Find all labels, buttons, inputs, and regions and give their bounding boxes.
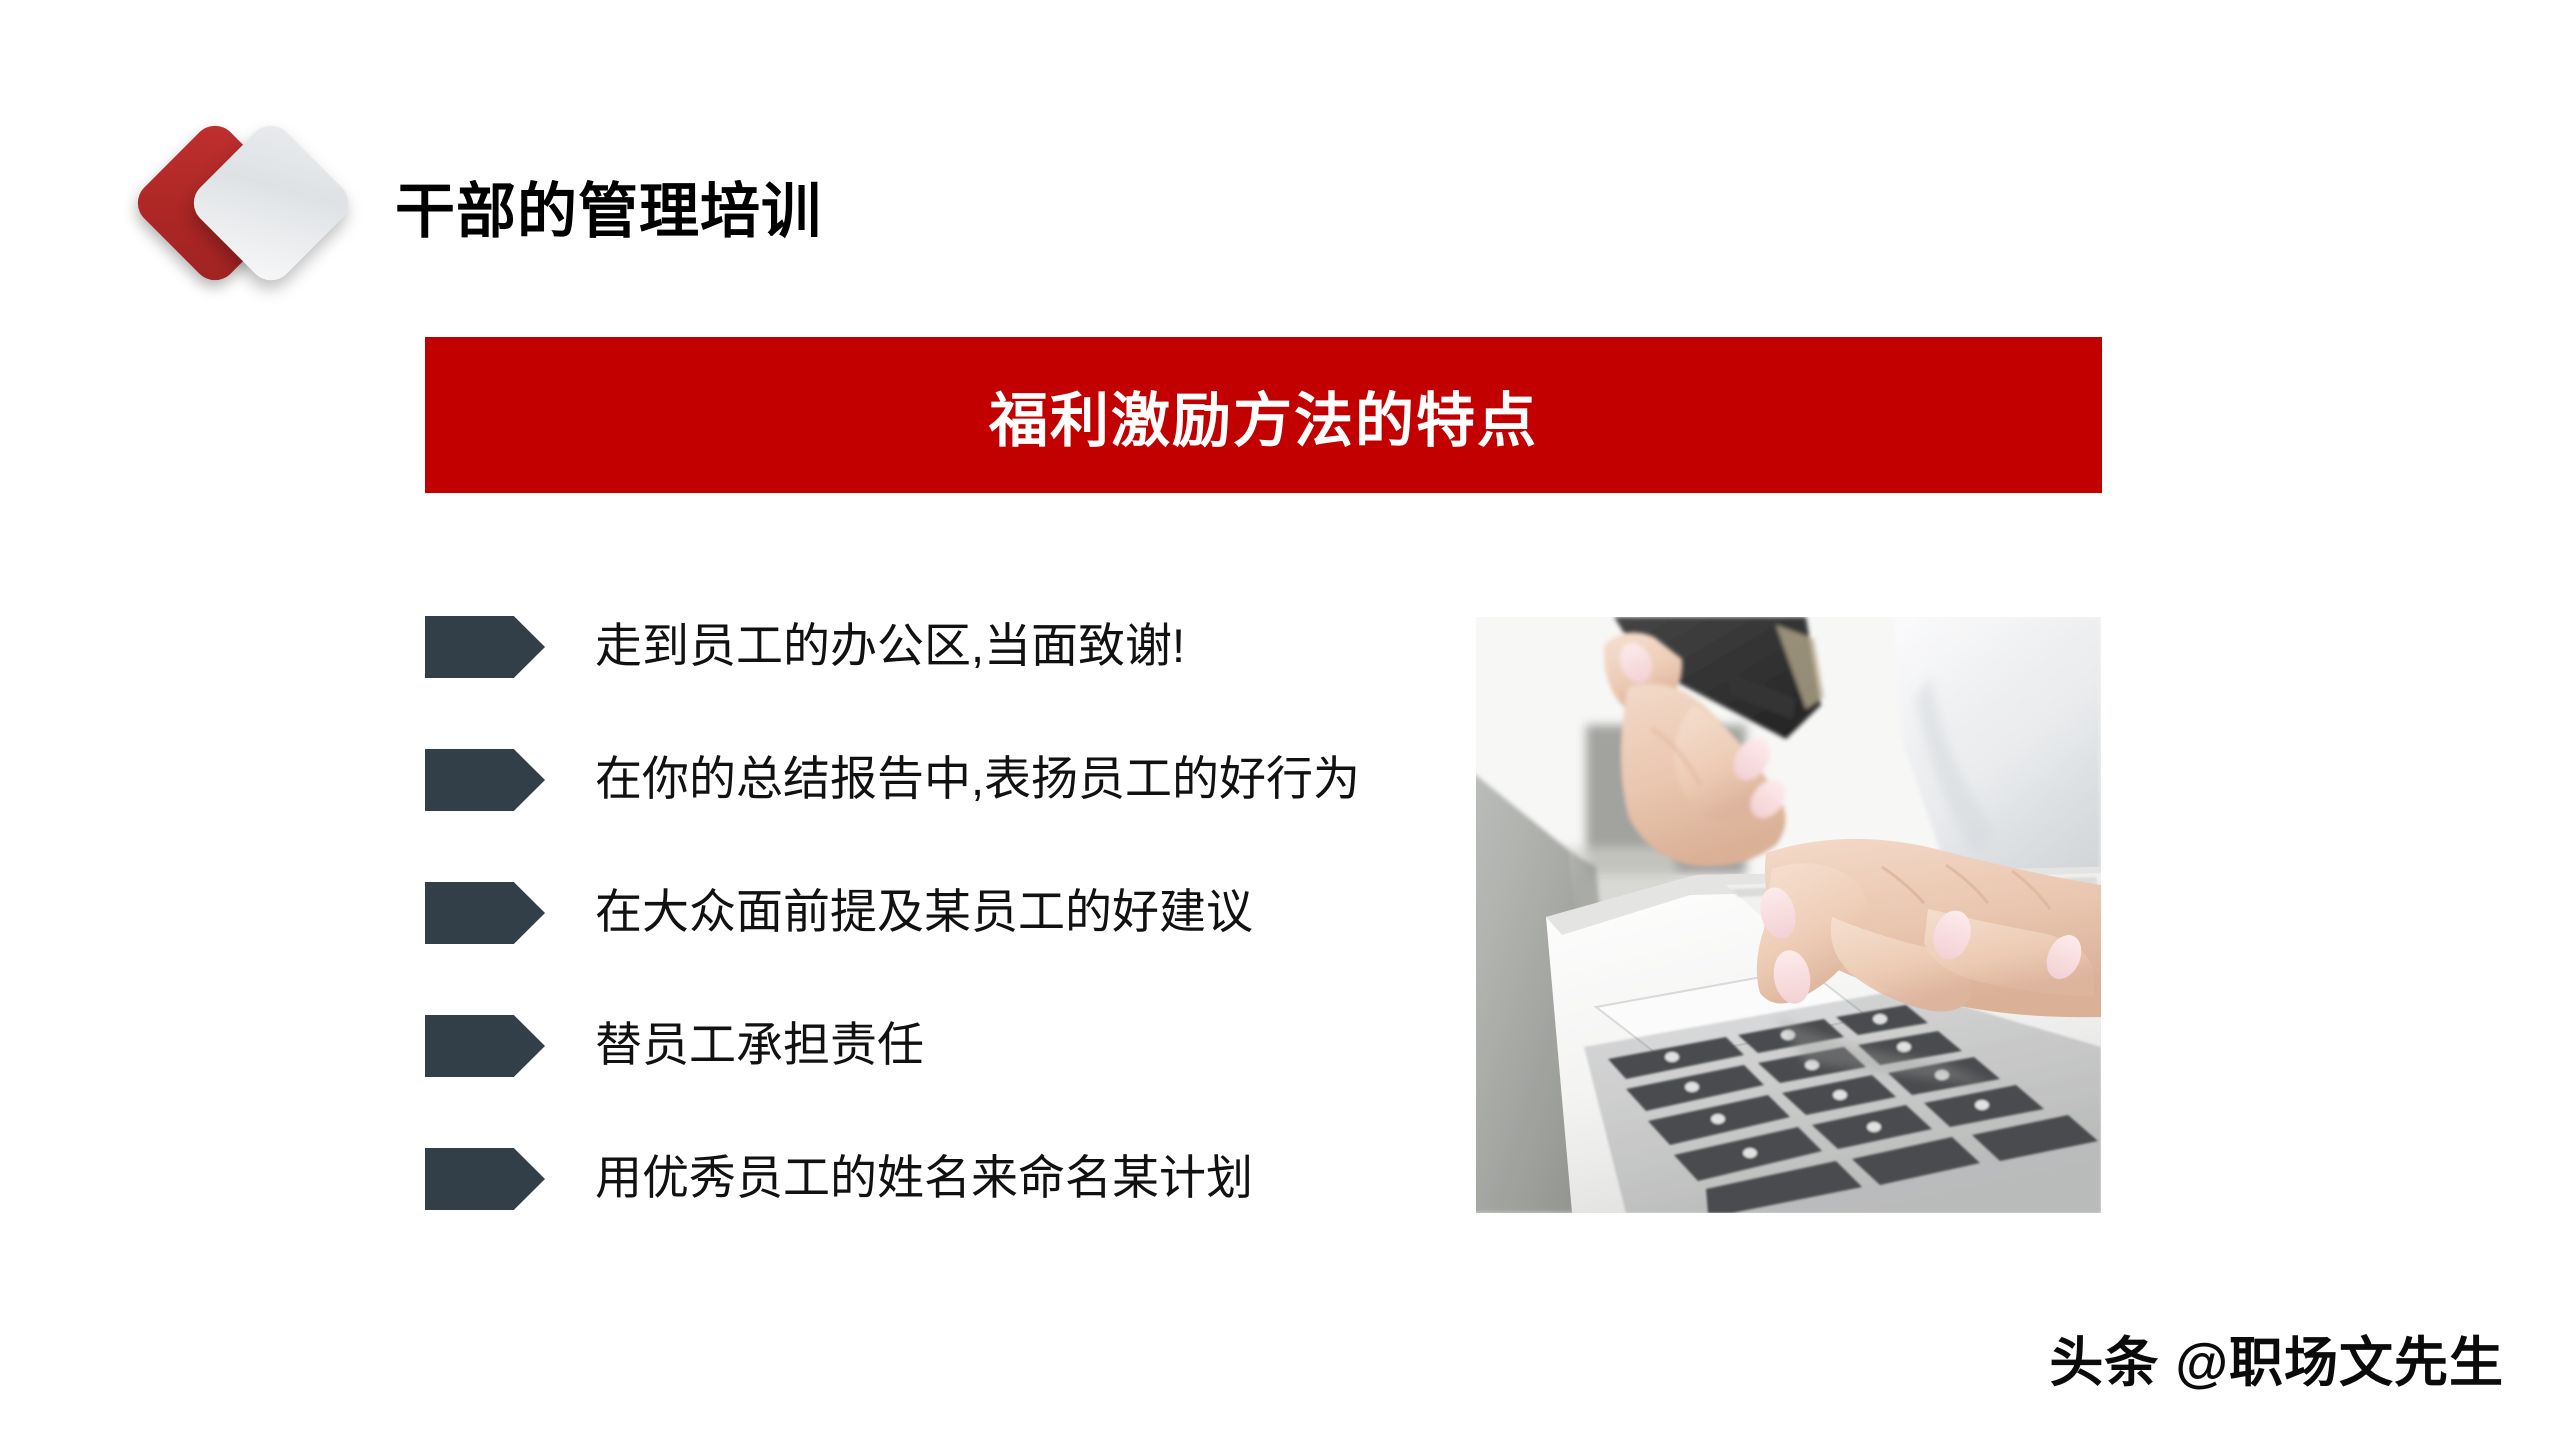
arrow-marker-icon	[425, 749, 545, 811]
list-item-label: 在你的总结报告中,表扬员工的好行为	[595, 745, 1360, 813]
list-item: 用优秀员工的姓名来命名某计划	[425, 1144, 1385, 1277]
section-banner: 福利激励方法的特点	[425, 337, 2102, 493]
slide-canvas: 干部的管理培训 福利激励方法的特点 走到员工的办公区,当面致谢! 在你的总结报告…	[0, 0, 2560, 1440]
double-diamond-logo	[148, 118, 368, 293]
list-item-label: 替员工承担责任	[595, 1011, 924, 1079]
list-item-label: 用优秀员工的姓名来命名某计划	[595, 1144, 1253, 1212]
page-title: 干部的管理培训	[395, 163, 822, 250]
arrow-marker-icon	[425, 616, 545, 678]
list-item-label: 在大众面前提及某员工的好建议	[595, 878, 1253, 946]
photo-graphic	[1476, 617, 2101, 1213]
list-item-label: 走到员工的办公区,当面致谢!	[595, 612, 1185, 680]
arrow-marker-icon	[425, 1015, 545, 1077]
arrow-marker-icon	[425, 882, 545, 944]
bullet-list: 走到员工的办公区,当面致谢! 在你的总结报告中,表扬员工的好行为 在大众面前提及…	[425, 612, 1385, 1277]
arrow-marker-icon	[425, 1148, 545, 1210]
list-item: 在你的总结报告中,表扬员工的好行为	[425, 745, 1385, 878]
watermark-text: 头条 @职场文先生	[2049, 1318, 2504, 1397]
list-item: 替员工承担责任	[425, 1011, 1385, 1144]
section-banner-title: 福利激励方法的特点	[989, 373, 1538, 458]
list-item: 在大众面前提及某员工的好建议	[425, 878, 1385, 1011]
illustration-photo	[1476, 617, 2101, 1213]
list-item: 走到员工的办公区,当面致谢!	[425, 612, 1385, 745]
